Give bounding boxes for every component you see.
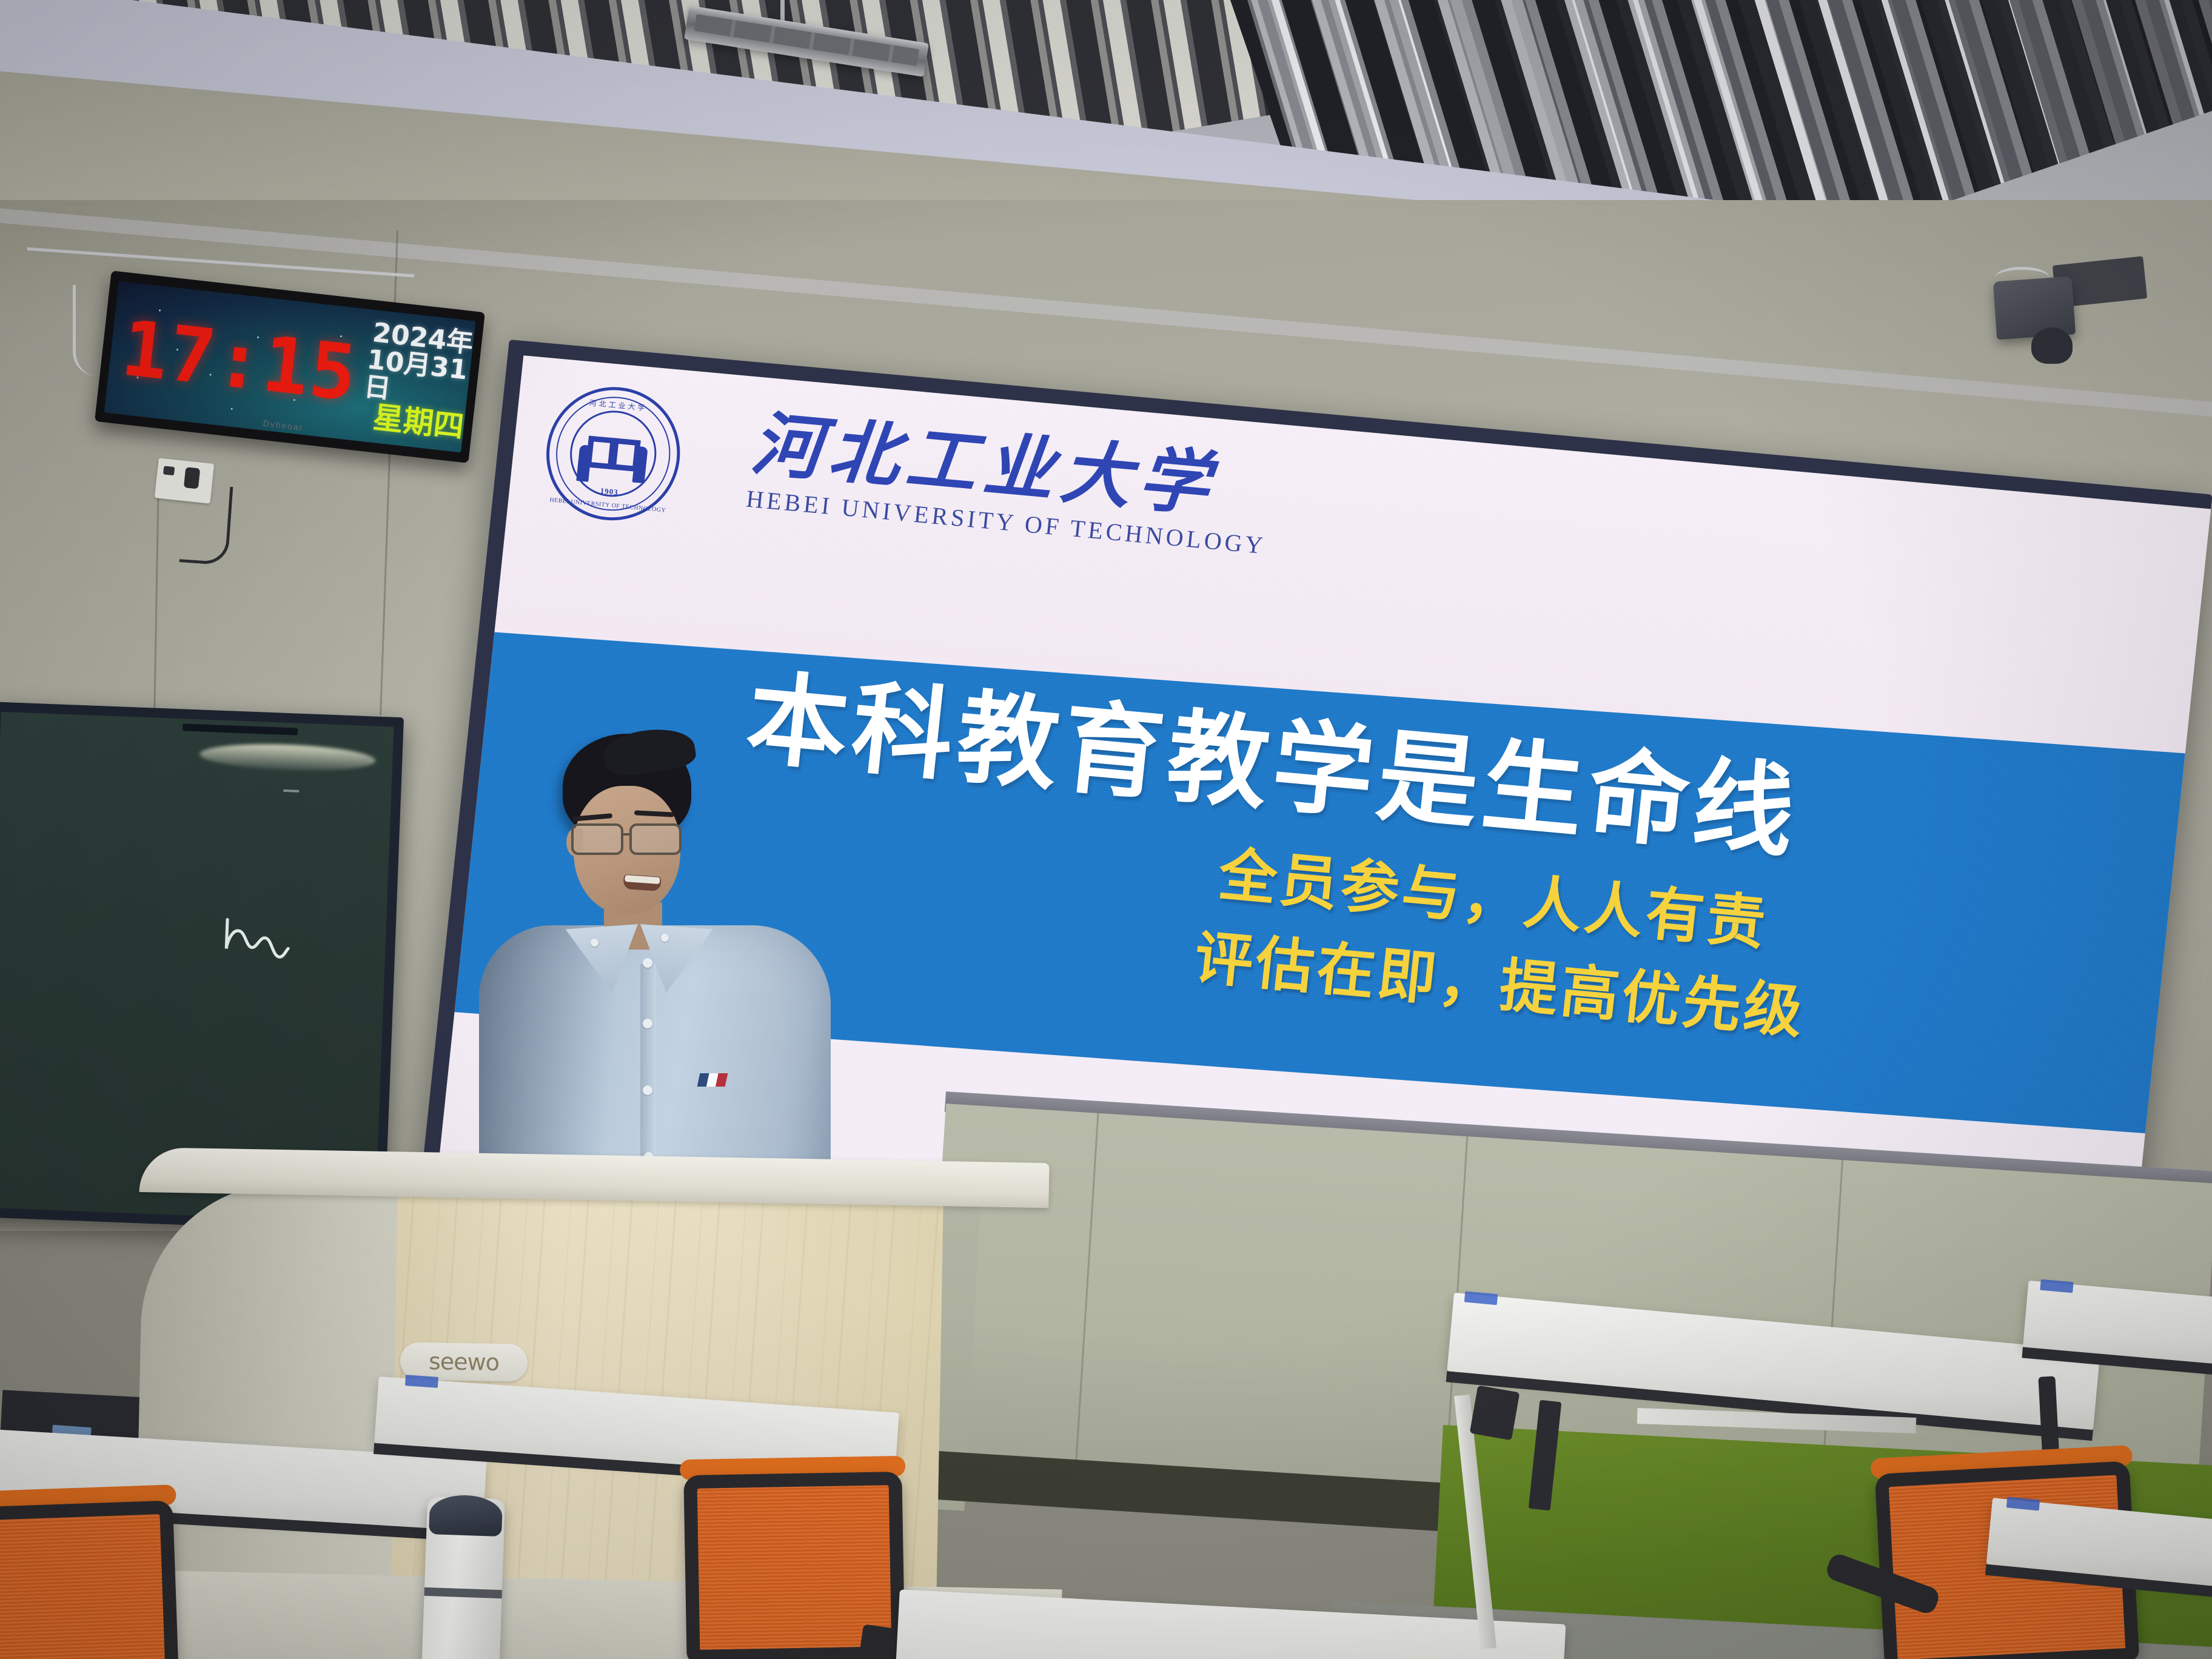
table-label-sticker — [1464, 1291, 1498, 1305]
table-right-far[interactable] — [2023, 1281, 2212, 1369]
clock-date-block: 2024年 10月31日 星期四 — [359, 320, 474, 443]
shirt-button — [643, 958, 652, 968]
camera-cable — [1995, 267, 2049, 289]
shirt-button — [643, 1019, 652, 1028]
thermos-flask[interactable] — [421, 1496, 505, 1659]
table-label-sticker — [2006, 1496, 2040, 1510]
thermos-band — [424, 1587, 502, 1598]
glasses-icon — [569, 823, 690, 859]
table-leg-hinge — [1470, 1386, 1520, 1441]
seal-founding-year: 1903 — [600, 486, 619, 498]
chair-backrest[interactable] — [0, 1500, 179, 1659]
classroom-photo-scene: 17:15 2024年 10月31日 星期四 Dvheoar 河北工业大学 — [0, 0, 2212, 1659]
glasses-lens-right — [629, 823, 682, 855]
chair-front-left[interactable] — [0, 1500, 179, 1659]
whiteboard-scribble-icon — [221, 914, 309, 984]
shirt-brand-logo-icon — [697, 1073, 728, 1087]
glasses-bridge — [622, 833, 632, 836]
seal-gong-glyph-icon — [586, 436, 641, 472]
outlet-wire — [179, 483, 233, 565]
presenter-mouth — [623, 874, 662, 891]
table-label-sticker — [405, 1375, 438, 1388]
table-label-sticker — [2040, 1279, 2073, 1293]
collar-button — [661, 934, 669, 942]
clock-display: 17:15 2024年 10月31日 星期四 Dvheoar — [104, 281, 476, 453]
seewo-brand-text: seewo — [429, 1348, 500, 1376]
chair-mesh-texture — [0, 1514, 165, 1659]
chair-mesh-texture — [697, 1485, 892, 1649]
whiteboard-surface[interactable] — [0, 712, 394, 1222]
thermos-cap[interactable] — [429, 1494, 503, 1537]
shirt-button — [643, 1085, 652, 1095]
presenter — [461, 734, 849, 1219]
camera-lens-icon — [2031, 327, 2073, 364]
collar-button — [591, 939, 598, 947]
seal-inner-ring — [566, 407, 660, 500]
glasses-lens-left — [571, 823, 623, 855]
